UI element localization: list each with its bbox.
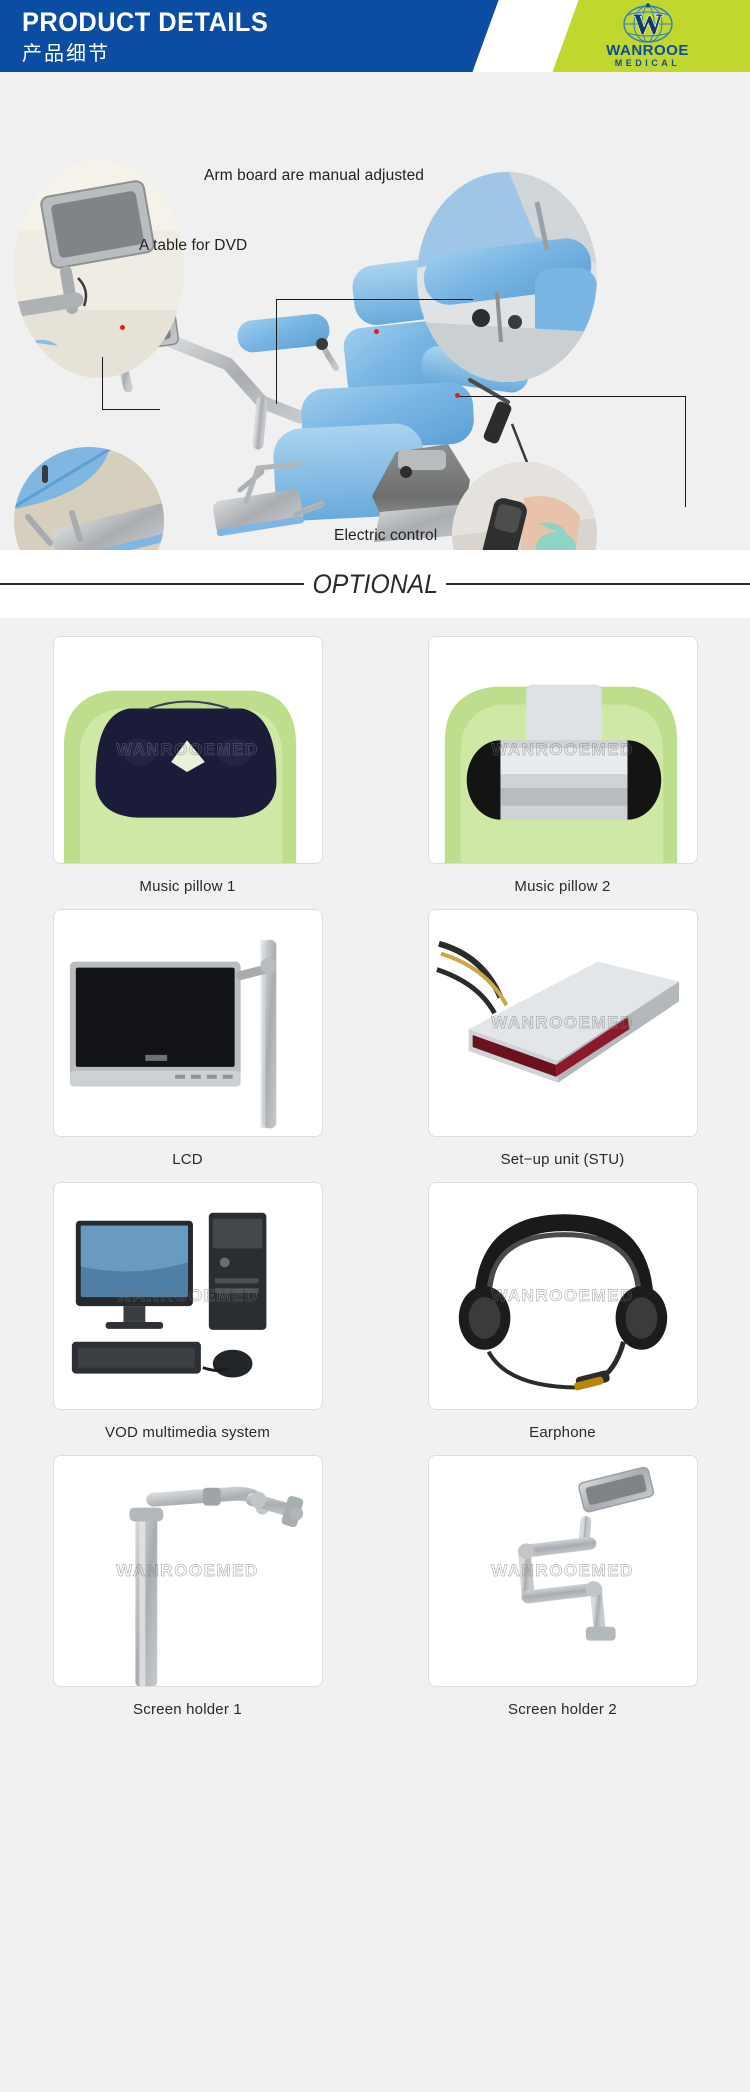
accessory-item-screen-holder-2[interactable]: WANROOEMED Screen holder 2 xyxy=(375,1455,750,1732)
header-title-group: PRODUCT DETAILS 产品细节 xyxy=(22,6,284,68)
accessory-caption: LCD xyxy=(172,1151,203,1168)
connector-control-horizontal xyxy=(457,396,685,397)
connector-control-vertical xyxy=(685,396,686,507)
accessory-image-card[interactable]: WANROOEMED xyxy=(53,1455,323,1687)
accessory-row: WANROOEMED Screen holder 1 xyxy=(0,1455,750,1732)
connector-dvd-vertical xyxy=(102,357,103,409)
accessory-item-setup-unit[interactable]: WANROOEMED Set−up unit (STU) xyxy=(375,909,750,1182)
accessory-item-screen-holder-1[interactable]: WANROOEMED Screen holder 1 xyxy=(0,1455,375,1732)
label-arm-board: Arm board are manual adjusted xyxy=(204,167,424,185)
accessory-caption: Set−up unit (STU) xyxy=(501,1151,625,1168)
accessory-image-card[interactable]: WANROOEMED xyxy=(428,1455,698,1687)
accessory-caption: Earphone xyxy=(529,1424,596,1441)
anchor-dot-dvd xyxy=(120,325,125,330)
anchor-dot-arm xyxy=(374,329,379,334)
accessory-image-card[interactable] xyxy=(53,909,323,1137)
connector-arm-vertical xyxy=(276,299,277,404)
accessory-image-card[interactable]: WANROOEMED xyxy=(428,909,698,1137)
accessory-caption: VOD multimedia system xyxy=(105,1424,270,1441)
accessory-row: WANROOEMED Music pillow 1 xyxy=(0,636,750,909)
connector-arm-horizontal xyxy=(276,299,473,300)
accessory-image-card[interactable]: WANROOEMED xyxy=(53,636,323,864)
product-details-page: PRODUCT DETAILS 产品细节 W WANROOE MEDICAL xyxy=(0,0,750,2092)
optional-accessories-grid: WANROOEMED Music pillow 1 xyxy=(0,618,750,1754)
accessory-item-lcd[interactable]: LCD xyxy=(0,909,375,1182)
svg-text:W: W xyxy=(633,8,663,41)
product-diagram: Arm board are manual adjusted A table fo… xyxy=(0,72,750,550)
page-header: PRODUCT DETAILS 产品细节 W WANROOE MEDICAL xyxy=(0,0,750,72)
accessory-row: LCD WANROOEMED xyxy=(0,909,750,1182)
logo-brand-name: WANROOE xyxy=(606,43,689,58)
optional-heading: OPTIONAL xyxy=(309,569,440,600)
connector-dvd-horizontal xyxy=(102,409,160,410)
anchor-dot-control xyxy=(455,393,460,398)
accessory-image-card[interactable]: WANROOEMED xyxy=(428,636,698,864)
divider-rule-right xyxy=(446,583,750,585)
accessory-image-card[interactable]: WANROOEMED xyxy=(428,1182,698,1410)
accessory-caption: Music pillow 1 xyxy=(139,878,235,895)
accessory-item-earphone[interactable]: WANROOEMED Earphone xyxy=(375,1182,750,1455)
accessory-item-music-pillow-1[interactable]: WANROOEMED Music pillow 1 xyxy=(0,636,375,909)
accessory-item-music-pillow-2[interactable]: WANROOEMED Music pillow 2 xyxy=(375,636,750,909)
page-subtitle-chinese: 产品细节 xyxy=(22,40,284,68)
label-electric-control: Electric control xyxy=(334,527,437,545)
logo-brand-tagline: MEDICAL xyxy=(615,58,681,69)
accessory-caption: Screen holder 1 xyxy=(133,1701,242,1718)
optional-divider: OPTIONAL xyxy=(0,550,750,618)
accessory-image-card[interactable]: WANROOEMED xyxy=(53,1182,323,1410)
label-dvd-table: A table for DVD xyxy=(139,237,247,255)
callout-arm-board-photo xyxy=(417,172,597,382)
callout-electric-control-photo xyxy=(452,462,597,550)
callout-leg-section-photo xyxy=(14,447,164,550)
brand-logo: W WANROOE MEDICAL xyxy=(545,0,750,72)
accessory-caption: Music pillow 2 xyxy=(514,878,610,895)
divider-rule-left xyxy=(0,583,304,585)
accessory-item-vod-multimedia[interactable]: WANROOEMED VOD multimedia system xyxy=(0,1182,375,1455)
globe-icon: W xyxy=(621,2,675,44)
accessory-row: WANROOEMED VOD multimedia system xyxy=(0,1182,750,1455)
callout-dvd-table-photo xyxy=(14,160,184,378)
page-title: PRODUCT DETAILS xyxy=(22,6,268,38)
accessory-caption: Screen holder 2 xyxy=(508,1701,617,1718)
